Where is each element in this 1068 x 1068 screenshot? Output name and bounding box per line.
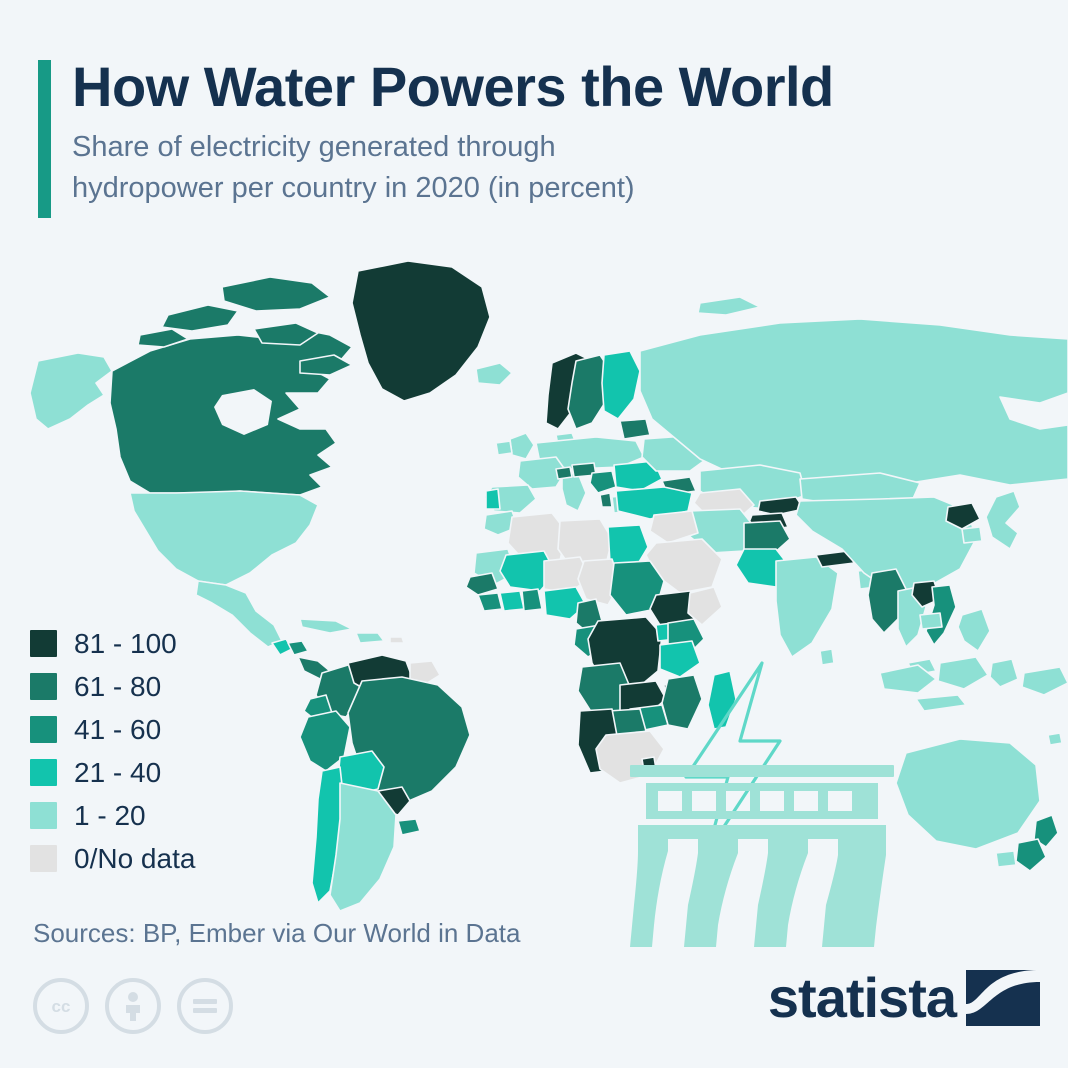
region-united-kingdom [510,433,534,459]
legend-swatch-no-data [30,845,57,872]
region-india [776,557,838,657]
legend-swatch-81-100 [30,630,57,657]
region-alaska [30,353,112,429]
legend-item: 81 - 100 [30,622,195,665]
legend-label: 81 - 100 [74,630,177,658]
region-canada-arctic-1 [162,305,238,331]
legend-item: 1 - 20 [30,794,195,837]
infographic-page: How Water Powers the World Share of elec… [0,0,1068,1068]
region-indonesia-borneo [938,657,988,689]
region-croatia-balkans [590,471,616,493]
legend-item: 61 - 80 [30,665,195,708]
header-text: How Water Powers the World Share of elec… [72,58,1028,209]
dam-pier-3 [754,839,808,947]
statista-mark-icon [966,970,1040,1026]
no-derivatives-equals-icon [177,978,233,1034]
region-indonesia-sulawesi [990,659,1018,687]
dam-pier-2 [684,839,738,947]
region-puerto-rico [390,637,404,643]
legend-label: 61 - 80 [74,673,161,701]
region-senegal-guinea [466,573,498,595]
region-portugal [486,489,500,509]
legend-item: 41 - 60 [30,708,195,751]
legend-swatch-41-60 [30,716,57,743]
dam-pier-4 [822,839,886,947]
cc-icon: cc [33,978,89,1034]
sources-note: Sources: BP, Ember via Our World in Data [33,918,520,949]
legend-item: 0/No data [30,837,195,880]
region-philippines [958,609,990,651]
legend-swatch-21-40 [30,759,57,786]
page-title: How Water Powers the World [72,58,1028,115]
legend-label: 0/No data [74,845,195,873]
region-mexico [196,581,282,647]
region-guatemala [272,639,292,655]
region-russia-islands [698,297,760,315]
region-uruguay [398,819,420,835]
region-finland [602,351,640,419]
legend-swatch-61-80 [30,673,57,700]
dam-window-band [646,783,878,819]
region-south-korea [962,527,982,543]
map-legend: 81 - 100 61 - 80 41 - 60 21 - 40 1 - 20 … [30,622,195,880]
hydroelectric-dam-illustration [612,655,912,955]
statista-logo: statista [768,970,1040,1026]
region-sierra-leone-liberia [478,593,502,611]
region-switzerland [556,467,572,479]
footer: cc statista [0,970,1068,1050]
region-albania [600,493,612,507]
region-russia [640,319,1068,485]
region-iceland [476,363,512,385]
region-honduras [288,641,308,655]
dam-pier-1 [630,839,668,947]
region-ireland [496,441,512,455]
region-greenland [352,261,490,401]
legend-label: 21 - 40 [74,759,161,787]
svg-text:cc: cc [52,997,71,1016]
header: How Water Powers the World Share of elec… [38,58,1028,209]
region-argentina [330,783,396,911]
accent-bar [38,60,51,218]
region-australia [896,739,1040,849]
page-subtitle: Share of electricity generated through h… [72,127,832,209]
region-indonesia-java [916,695,966,711]
dam-lower-deck [638,825,886,839]
region-cambodia [920,613,942,629]
region-ivory-coast [500,591,524,611]
region-fiji [1048,733,1062,745]
attribution-person-icon [105,978,161,1034]
subtitle-line-1: Share of electricity generated through [72,131,556,163]
statista-wordmark: statista [768,970,956,1026]
lightning-bolt-icon [686,663,780,851]
region-papua-new-guinea [1022,667,1068,695]
legend-item: 21 - 40 [30,751,195,794]
region-tasmania [996,851,1016,867]
subtitle-line-2: hydropower per country in 2020 (in perce… [72,172,635,204]
legend-swatch-1-20 [30,802,57,829]
creative-commons-badges: cc [33,978,233,1034]
region-canada-arctic-2 [222,277,330,311]
legend-label: 41 - 60 [74,716,161,744]
region-united-states [130,491,318,585]
region-cuba [300,619,352,633]
region-estonia-latvia-lithuania [620,419,650,439]
legend-label: 1 - 20 [74,802,146,830]
dam-top-rail [630,765,894,777]
region-hispaniola [356,633,384,643]
region-ghana [522,589,542,611]
region-japan [986,491,1020,549]
